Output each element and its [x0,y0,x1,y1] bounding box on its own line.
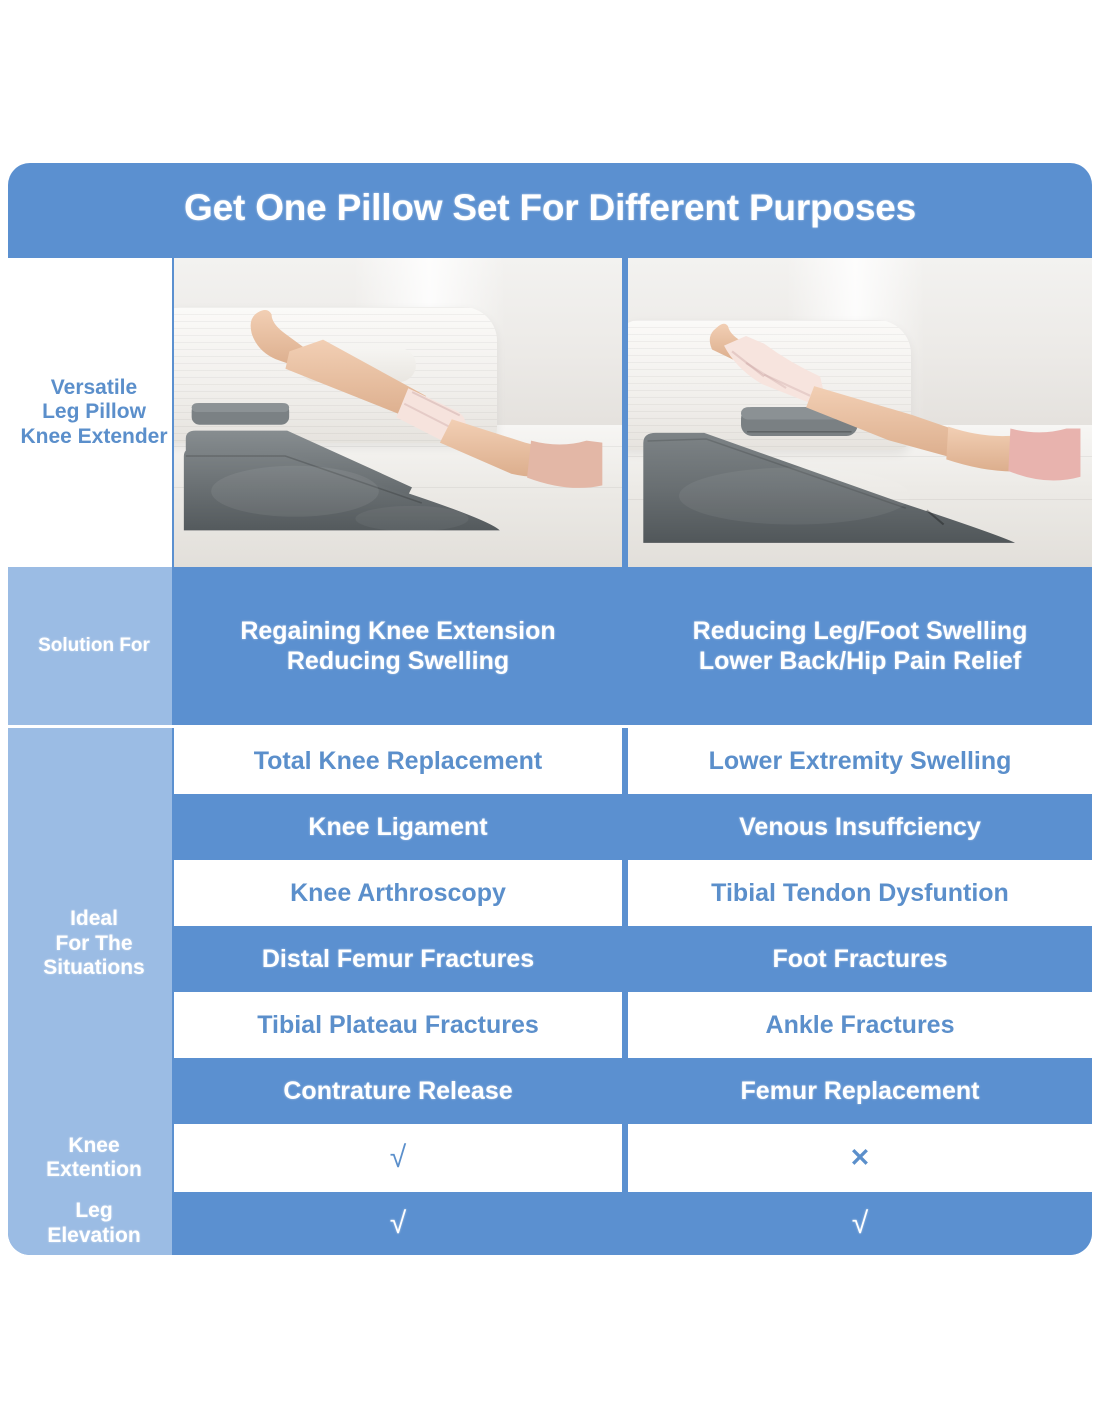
row-label-solution-for-text: Solution For [16,635,172,657]
row-label-leg-elevation: Leg Elevation [8,1192,172,1255]
leg-elevation-right-mark: √ [628,1192,1092,1255]
situation-cell-text: Knee Arthroscopy [290,878,506,909]
situation-cell-text: Knee Ligament [308,812,487,843]
situation-row-left: Contrature Release [174,1058,622,1124]
situation-row-left: Total Knee Replacement [174,728,622,794]
situation-row-right: Femur Replacement [628,1058,1092,1124]
knee-extension-left-mark: √ [174,1124,622,1192]
situation-row-right: Tibial Tendon Dysfuntion [628,860,1092,926]
situation-cell-text: Lower Extremity Swelling [709,746,1012,777]
check-mark-icon: √ [852,1209,868,1239]
situation-cell-text: Venous Insuffciency [739,812,981,843]
solution-for-right-text: Reducing Leg/Foot Swelling Lower Back/Hi… [693,616,1028,677]
row-label-ideal-situations-text: Ideal For The Situations [16,907,172,980]
leg-pillow-elevation-photo [628,258,1092,567]
solution-for-left-text: Regaining Knee Extension Reducing Swelli… [240,616,555,677]
situation-cell-text: Tibial Plateau Fractures [257,1010,539,1041]
situation-cell-text: Tibial Tendon Dysfuntion [711,878,1009,909]
leg-pillow-knee-extension-photo [174,258,622,567]
situation-cell-text: Total Knee Replacement [254,746,543,777]
situation-cell-text: Ankle Fractures [766,1010,955,1041]
situation-cell-text: Femur Replacement [741,1076,980,1107]
situation-cell-text: Distal Femur Fractures [262,944,534,975]
situation-row-left: Knee Ligament [174,794,622,860]
page-title: Get One Pillow Set For Different Purpose… [8,187,1092,229]
situation-row-left: Tibial Plateau Fractures [174,992,622,1058]
knee-extension-right-mark: ✕ [628,1124,1092,1192]
cross-mark-icon: ✕ [850,1146,871,1171]
row-label-leg-elevation-text: Leg Elevation [16,1199,172,1248]
leg-elevation-left-mark: √ [174,1192,622,1255]
row-label-ideal-situations: Ideal For The Situations [8,728,172,1160]
situation-row-left: Distal Femur Fractures [174,926,622,992]
row-label-knee-extension: Knee Extention [8,1124,172,1192]
solution-for-right: Reducing Leg/Foot Swelling Lower Back/Hi… [628,567,1092,725]
row-label-product: Versatile Leg Pillow Knee Extender [8,258,172,567]
row-label-product-text: Versatile Leg Pillow Knee Extender [16,376,172,449]
infographic-page: Get One Pillow Set For Different Purpose… [0,0,1100,1422]
situation-row-left: Knee Arthroscopy [174,860,622,926]
check-mark-icon: √ [390,1143,406,1173]
situation-row-right: Foot Fractures [628,926,1092,992]
row-label-knee-extension-text: Knee Extention [16,1134,172,1183]
row-label-solution-for: Solution For [8,567,172,725]
situation-cell-text: Foot Fractures [772,944,947,975]
comparison-card: Get One Pillow Set For Different Purpose… [8,163,1092,1255]
situation-cell-text: Contrature Release [283,1076,512,1107]
check-mark-icon: √ [390,1209,406,1239]
situation-row-right: Lower Extremity Swelling [628,728,1092,794]
situation-row-right: Ankle Fractures [628,992,1092,1058]
situation-row-right: Venous Insuffciency [628,794,1092,860]
solution-for-left: Regaining Knee Extension Reducing Swelli… [174,567,622,725]
